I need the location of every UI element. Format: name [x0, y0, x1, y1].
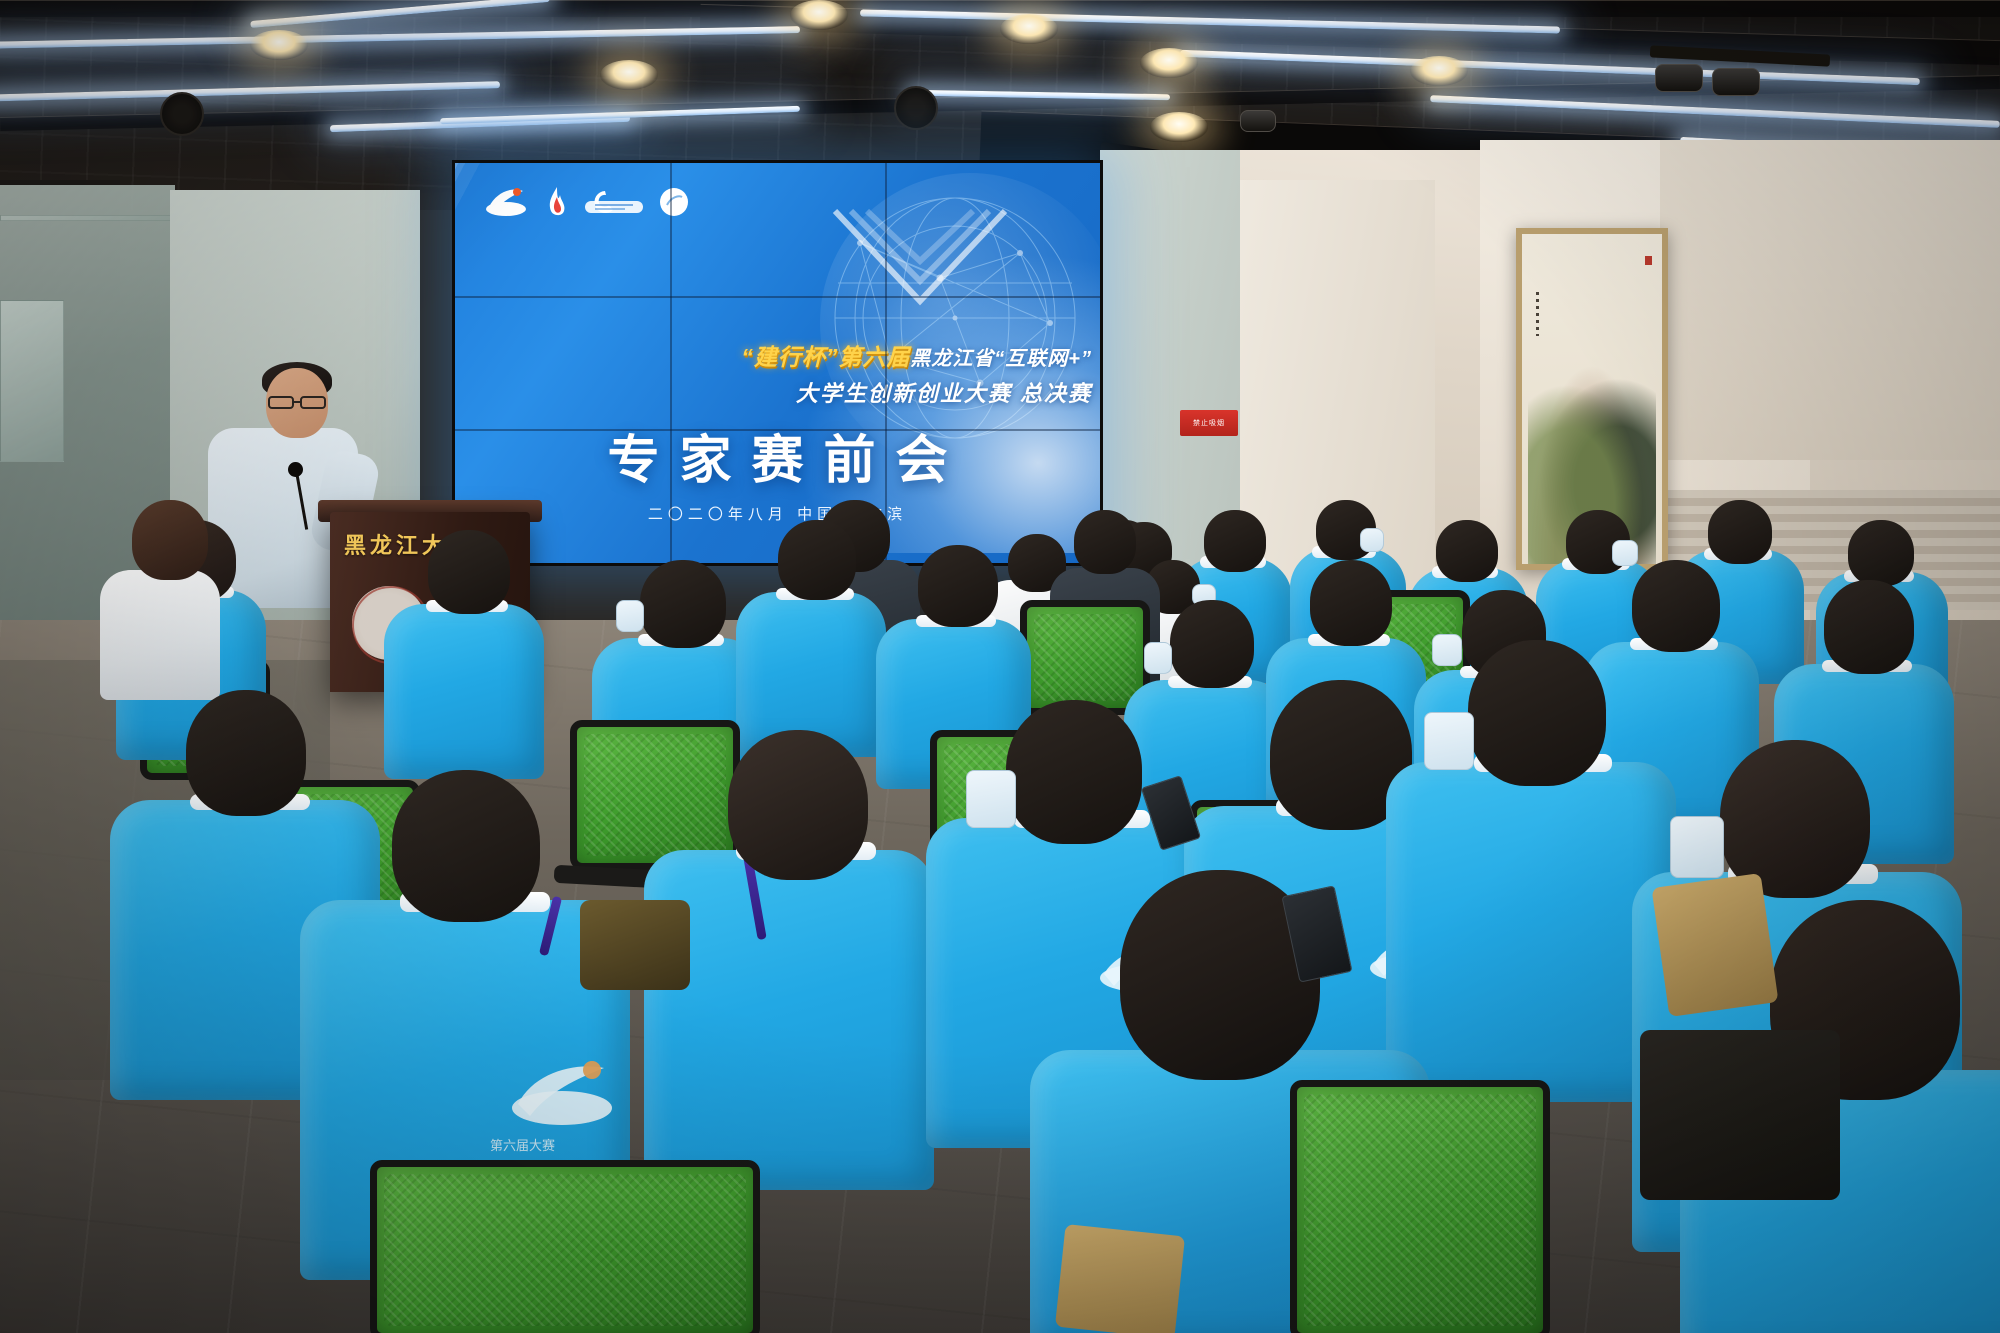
audience-head: [918, 545, 998, 627]
ceiling-downlight: [1150, 112, 1208, 142]
ceiling-downlight: [790, 0, 848, 30]
audience-white-shirt: [100, 570, 220, 700]
audience-head: [728, 730, 868, 880]
led-video-wall[interactable]: “建行杯”第六届黑龙江省“互联网+” 大学生创新创业大赛 总决赛 专家赛前会 二…: [452, 160, 1103, 566]
microphone-head: [288, 462, 303, 477]
audience-head: [640, 560, 726, 648]
track-spotlight: [1712, 68, 1760, 96]
ccb-bank-logo: [585, 189, 643, 215]
ceiling-downlight: [1000, 14, 1058, 44]
audience-head: [1006, 700, 1142, 844]
tote-bag: [1055, 1224, 1185, 1333]
audience-head: [1848, 520, 1914, 586]
tote-bag: [1651, 873, 1778, 1017]
painting-calligraphy: [1536, 292, 1539, 336]
screen-headline-row2: 大学生创新创业大赛 总决赛: [532, 376, 1092, 408]
chair-back: [370, 1160, 760, 1333]
glass-panel: [0, 215, 177, 221]
audience-head: [1436, 520, 1498, 582]
screen-sponsor-logos: [483, 185, 689, 219]
audience-head: [1632, 560, 1720, 652]
track-spotlight: [1240, 110, 1276, 132]
chair-mesh: [384, 1174, 746, 1326]
audience-head: [1204, 510, 1266, 572]
circle-logo: [659, 187, 689, 217]
no-smoking-sign: 禁止吸烟: [1180, 410, 1238, 436]
audience-face-mask: [616, 600, 644, 632]
chair-mesh: [584, 734, 726, 856]
screen-headline-block: “建行杯”第六届黑龙江省“互联网+” 大学生创新创业大赛 总决赛: [532, 338, 1092, 408]
chair-mesh: [1034, 614, 1136, 701]
ceiling-downlight: [250, 30, 308, 60]
audience-head: [1074, 510, 1136, 574]
ceiling-downlight: [1140, 48, 1198, 78]
audience-head: [1170, 600, 1254, 688]
shirt-back-print-logo: 第六届大赛: [480, 1050, 650, 1170]
audience-face-mask: [1360, 528, 1384, 552]
ccie-swan-logo: [483, 185, 529, 219]
window-shade: [1660, 140, 2000, 460]
screen-panel-seam: [455, 296, 1100, 298]
screen-panel-seam: [455, 429, 1100, 431]
audience-face-mask: [1424, 712, 1474, 770]
audience-head: [132, 500, 208, 580]
chair-mesh: [1304, 1094, 1536, 1326]
audience-head: [1310, 560, 1392, 646]
audience-face-mask: [1612, 540, 1638, 566]
backpack: [1640, 1030, 1840, 1200]
ceiling-downlight: [1410, 56, 1468, 86]
audience-head: [1468, 640, 1606, 786]
screen-panel-seam: [670, 163, 672, 563]
screen-headline-white: 黑龙江省“互联网+”: [910, 348, 1092, 370]
screen-date-line: 二〇二〇年八月 中国·哈尔滨: [455, 503, 1100, 524]
presenter-glasses: [268, 396, 326, 409]
audience-face-mask: [1144, 642, 1172, 674]
handbag: [580, 900, 690, 990]
audience-head: [778, 520, 856, 600]
flame-logo: [545, 185, 569, 219]
audience-head: [186, 690, 306, 816]
svg-text:第六届大赛: 第六届大赛: [490, 1138, 555, 1154]
audience-head: [1824, 580, 1914, 674]
audience-face-mask: [1432, 634, 1462, 666]
audience-polo-shirt: [384, 604, 544, 779]
conference-hall-photo: 禁止吸烟: [0, 0, 2000, 1333]
audience-polo-shirt: [644, 850, 934, 1190]
audience-head: [1720, 740, 1870, 898]
audience-face-mask: [966, 770, 1016, 828]
audience-head: [392, 770, 540, 922]
ceiling-downlight: [600, 60, 658, 90]
audience-face-mask: [1670, 816, 1724, 878]
screen-panel-seam: [885, 163, 887, 563]
painting-red-seal: [1645, 256, 1652, 265]
ceiling-can-light: [160, 92, 204, 136]
glass-panel: [0, 300, 64, 462]
ceiling-can-light: [894, 86, 938, 130]
chair-back: [570, 720, 740, 870]
chair-back: [1290, 1080, 1550, 1333]
audience-head: [1708, 500, 1772, 564]
track-spotlight: [1655, 64, 1703, 92]
audience-head: [428, 530, 510, 614]
